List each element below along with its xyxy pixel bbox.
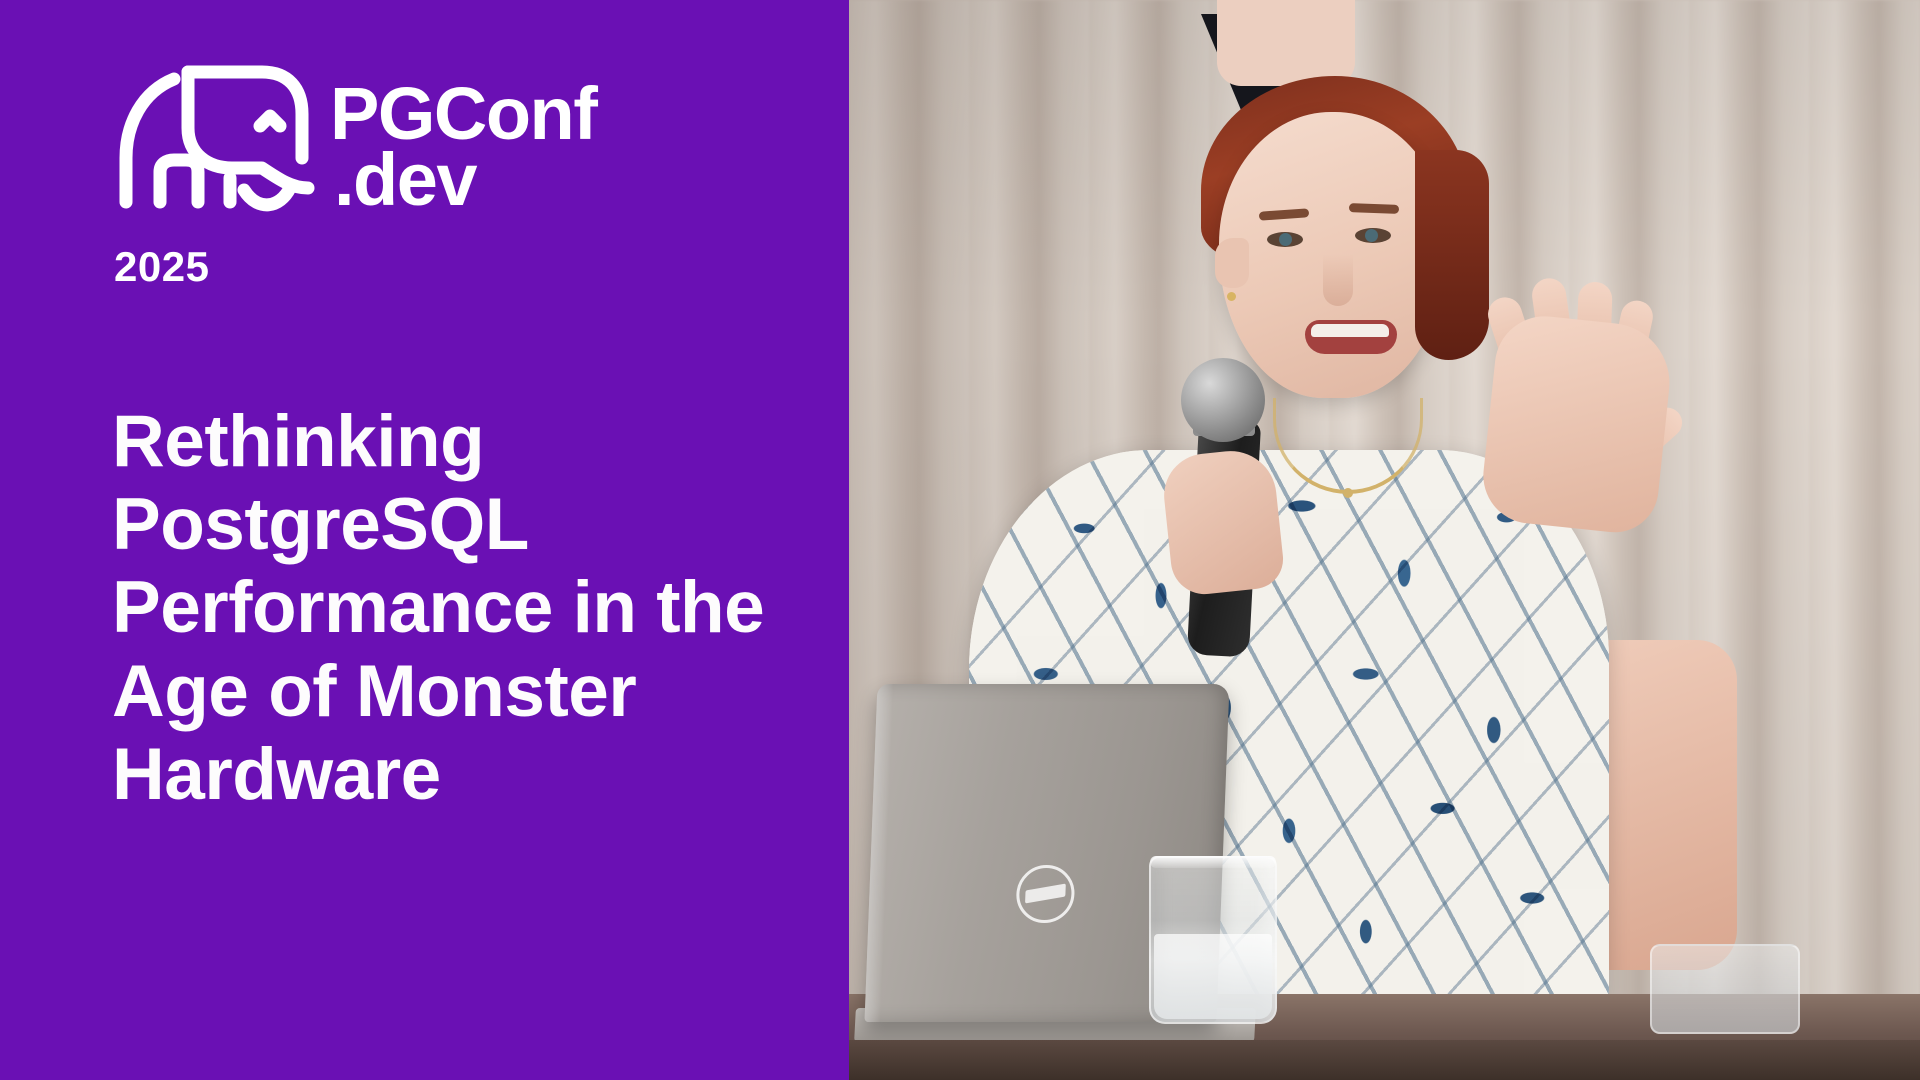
second-glass bbox=[1650, 944, 1800, 1034]
pupil-right bbox=[1365, 229, 1378, 242]
necklace-pendant bbox=[1343, 488, 1353, 498]
wordmark-pgconf: PGConf bbox=[330, 84, 596, 145]
eyebrow-right bbox=[1349, 203, 1399, 214]
branding-panel: PGConf .dev 2025 Rethinking PostgreSQL P… bbox=[0, 0, 849, 1080]
pgconf-elephant-logo-icon bbox=[112, 62, 320, 222]
wordmark-dev: .dev bbox=[334, 145, 476, 215]
talk-title: Rethinking PostgreSQL Performance in the… bbox=[112, 400, 792, 816]
talk-title-card: PGConf .dev 2025 Rethinking PostgreSQL P… bbox=[0, 0, 1920, 1080]
glass-rim bbox=[1150, 856, 1276, 868]
dell-logo-icon bbox=[1015, 865, 1075, 923]
pgconf-wordmark: PGConf .dev bbox=[330, 62, 596, 215]
hand-holding-microphone bbox=[1160, 447, 1286, 598]
hand-open-gesture bbox=[1479, 311, 1676, 536]
teeth bbox=[1311, 324, 1389, 337]
desk-front-edge bbox=[849, 1040, 1920, 1080]
water-level bbox=[1154, 934, 1272, 1019]
speaker-earring bbox=[1227, 292, 1236, 301]
water-glass bbox=[1149, 856, 1277, 1024]
microphone-head-icon bbox=[1181, 358, 1265, 442]
speaker-hair-side bbox=[1415, 150, 1489, 360]
speaker-neck bbox=[1217, 0, 1355, 86]
brand-lockup: PGConf .dev bbox=[112, 62, 642, 222]
conference-year: 2025 bbox=[114, 243, 209, 291]
nose bbox=[1323, 254, 1353, 306]
pupil-left bbox=[1279, 233, 1292, 246]
speaker-ear bbox=[1215, 238, 1249, 288]
speaker-photo bbox=[849, 0, 1920, 1080]
